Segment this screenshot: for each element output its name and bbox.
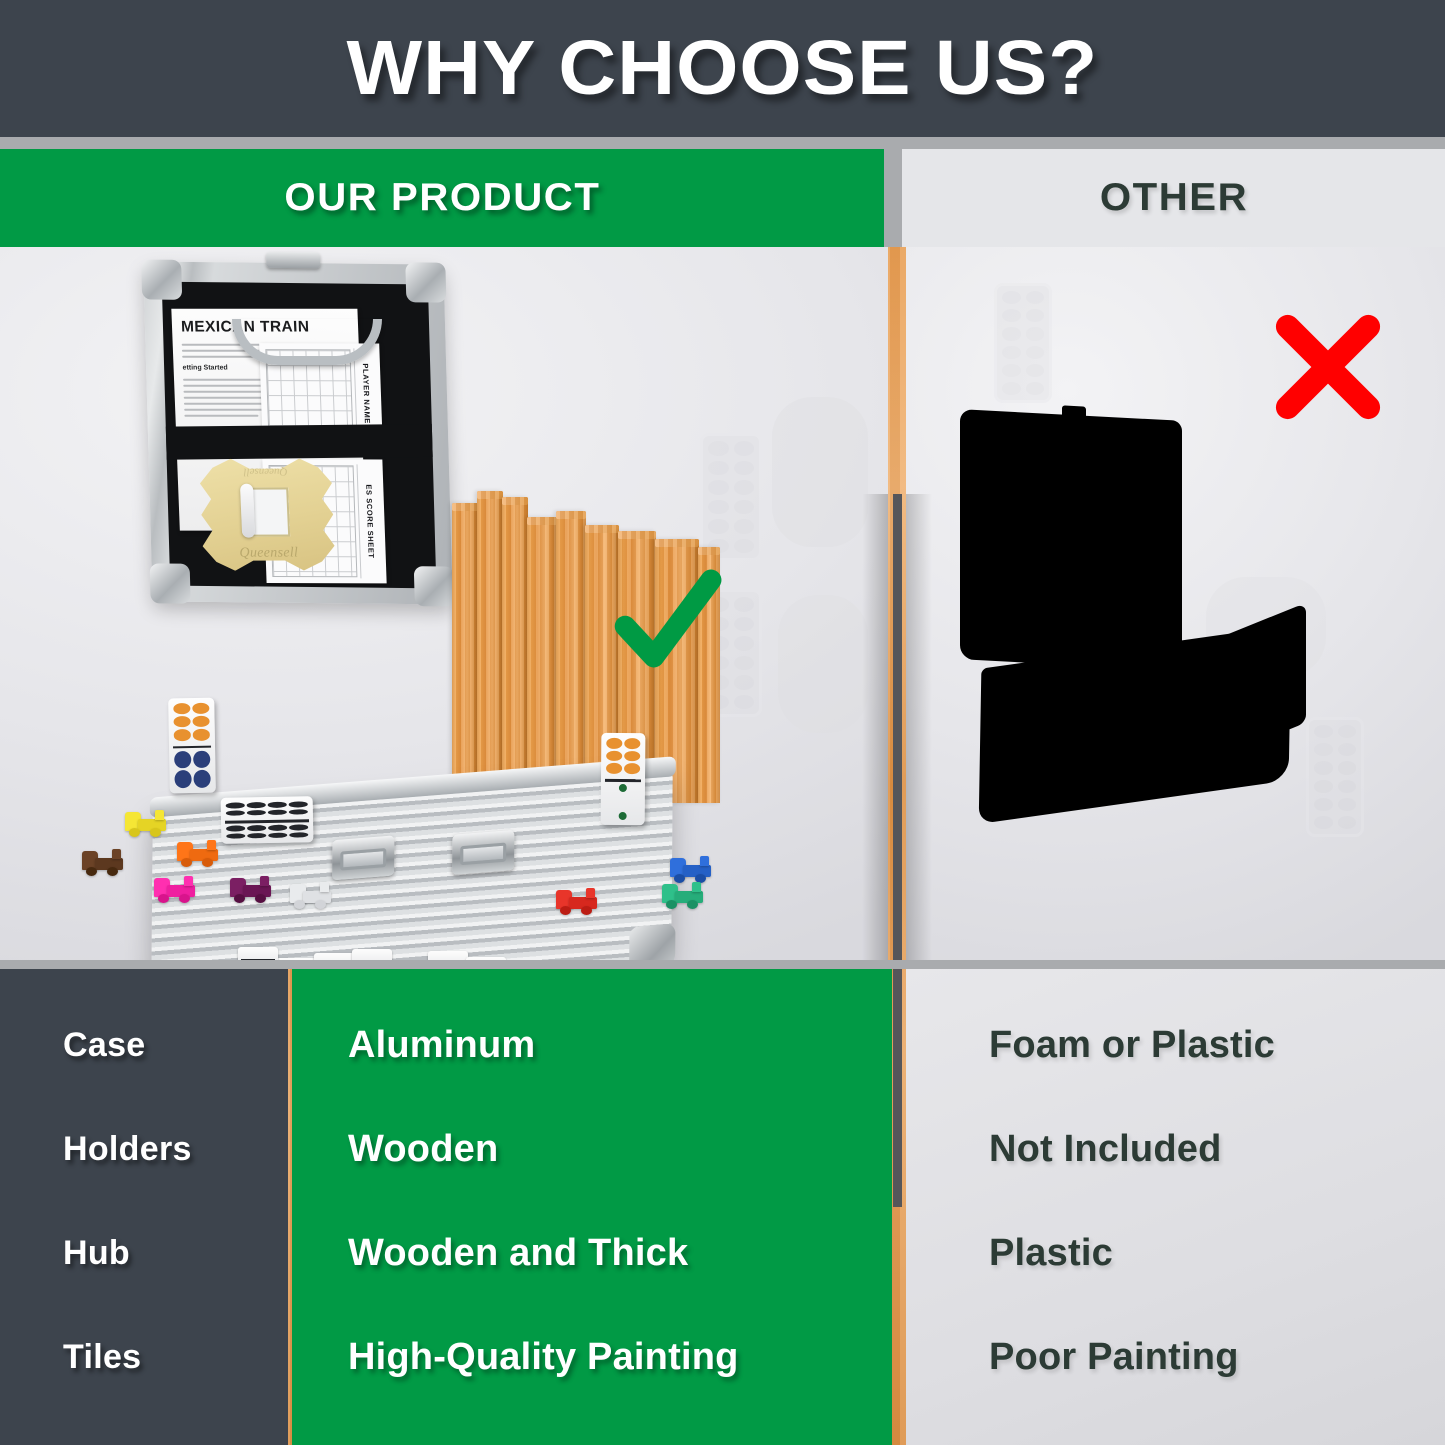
comparison-infographic: WHY CHOOSE US? OUR PRODUCT OTHER xyxy=(0,0,1445,1445)
spec-label: Holders xyxy=(0,1130,192,1169)
spec-comparison-table: Case Holders Hub Tiles Aluminum Wooden W… xyxy=(0,969,1445,1445)
box-lid xyxy=(960,409,1182,671)
domino-pips-green xyxy=(601,779,645,825)
table-row: Wooden and Thick xyxy=(292,1201,892,1305)
domino-tile xyxy=(314,953,354,960)
spec-value-ours: High-Quality Painting xyxy=(292,1336,739,1379)
train-marker-purple xyxy=(228,869,274,903)
domino-pips-orange xyxy=(168,698,215,746)
table-row: High-Quality Painting xyxy=(292,1305,892,1409)
table-row: Holders xyxy=(0,1097,288,1201)
case-latch xyxy=(332,835,394,880)
lid-corner xyxy=(414,566,455,606)
title-bar: WHY CHOOSE US? xyxy=(0,0,1445,137)
watermark-domino-tile xyxy=(994,283,1052,403)
spec-label-column: Case Holders Hub Tiles xyxy=(0,969,288,1445)
train-marker-brown xyxy=(80,842,126,876)
table-row: Case xyxy=(0,993,288,1097)
domino-pips-black xyxy=(221,796,313,821)
domino-tile xyxy=(221,796,314,844)
column-headers: OUR PRODUCT OTHER xyxy=(0,137,1445,247)
table-row: Tiles xyxy=(0,1305,288,1409)
spec-our-product-column: Aluminum Wooden Wooden and Thick High-Qu… xyxy=(292,969,892,1445)
train-marker-yellow xyxy=(123,803,169,837)
case-handle xyxy=(232,319,382,365)
header-our-product: OUR PRODUCT xyxy=(0,149,884,247)
case-base xyxy=(151,763,673,960)
domino-tile xyxy=(168,698,216,794)
lid-corner xyxy=(150,563,191,603)
spec-value-ours: Wooden and Thick xyxy=(292,1232,688,1275)
domino-tile xyxy=(428,951,468,960)
check-mark-icon xyxy=(612,569,722,679)
train-marker-clear xyxy=(288,875,334,909)
cross-mark-icon xyxy=(1272,311,1384,423)
train-marker-green xyxy=(660,875,706,909)
hub-brand: Queensell xyxy=(203,545,336,561)
case-lid: MEXICAN TRAIN etting Started xyxy=(143,261,453,604)
spec-value-other: Poor Painting xyxy=(906,1336,1239,1379)
spec-other-column: Foam or Plastic Not Included Plastic Poo… xyxy=(906,969,1445,1445)
score-sheet-side-label: ES SCORE SHEET xyxy=(356,464,382,578)
hub-pin xyxy=(240,483,255,537)
case-latch xyxy=(452,830,514,875)
header-other-label: OTHER xyxy=(1099,176,1247,220)
table-row: Poor Painting xyxy=(906,1305,1445,1409)
case-corner xyxy=(629,923,675,960)
header-other: OTHER xyxy=(902,149,1445,247)
spec-label: Tiles xyxy=(0,1338,141,1377)
wooden-holder xyxy=(556,511,586,803)
table-row: Not Included xyxy=(906,1097,1445,1201)
table-row: Wooden xyxy=(292,1097,892,1201)
hub-brand-reversed: Queensell xyxy=(199,465,332,477)
spec-value-ours: Wooden xyxy=(292,1128,498,1171)
image-panels: MEXICAN TRAIN etting Started xyxy=(0,247,1445,960)
wooden-holder xyxy=(477,491,503,803)
table-row: Plastic xyxy=(906,1201,1445,1305)
lid-clasp xyxy=(266,252,320,269)
lid-corner xyxy=(141,259,182,299)
other-product-black-box xyxy=(950,415,1370,845)
train-marker-pink xyxy=(152,869,198,903)
panel-our-product: MEXICAN TRAIN etting Started xyxy=(0,247,888,960)
domino-pips-orange xyxy=(601,733,645,779)
spec-value-other: Not Included xyxy=(906,1128,1222,1171)
domino-pips-black xyxy=(221,819,313,844)
train-marker-red xyxy=(554,881,600,915)
header-our-product-label: OUR PRODUCT xyxy=(284,176,600,220)
page-title: WHY CHOOSE US? xyxy=(347,24,1099,113)
domino-pips-blue xyxy=(169,745,216,793)
dominoes-in-case xyxy=(238,947,558,960)
elastic-strap xyxy=(162,424,437,460)
domino-tile xyxy=(352,949,392,960)
table-row: Foam or Plastic xyxy=(906,993,1445,1097)
spec-label: Hub xyxy=(0,1234,130,1273)
lid-corner xyxy=(405,262,446,302)
wooden-holder xyxy=(452,503,478,803)
spec-value-other: Foam or Plastic xyxy=(906,1024,1275,1067)
wooden-holder xyxy=(502,497,528,803)
wooden-hub: Queensell Queensell xyxy=(199,458,336,570)
table-row: Hub xyxy=(0,1201,288,1305)
wooden-holder xyxy=(527,517,557,803)
spec-label: Case xyxy=(0,1026,145,1065)
domino-tile xyxy=(238,947,278,960)
table-row: Aluminum xyxy=(292,993,892,1097)
panels-bottom-strip xyxy=(0,960,1445,969)
panel-other xyxy=(906,247,1445,960)
spec-value-other: Plastic xyxy=(906,1232,1113,1275)
train-marker-orange xyxy=(175,833,221,867)
domino-tile xyxy=(601,733,646,825)
spec-value-ours: Aluminum xyxy=(292,1024,535,1067)
product-photo-aluminum-case: MEXICAN TRAIN etting Started xyxy=(0,247,888,960)
